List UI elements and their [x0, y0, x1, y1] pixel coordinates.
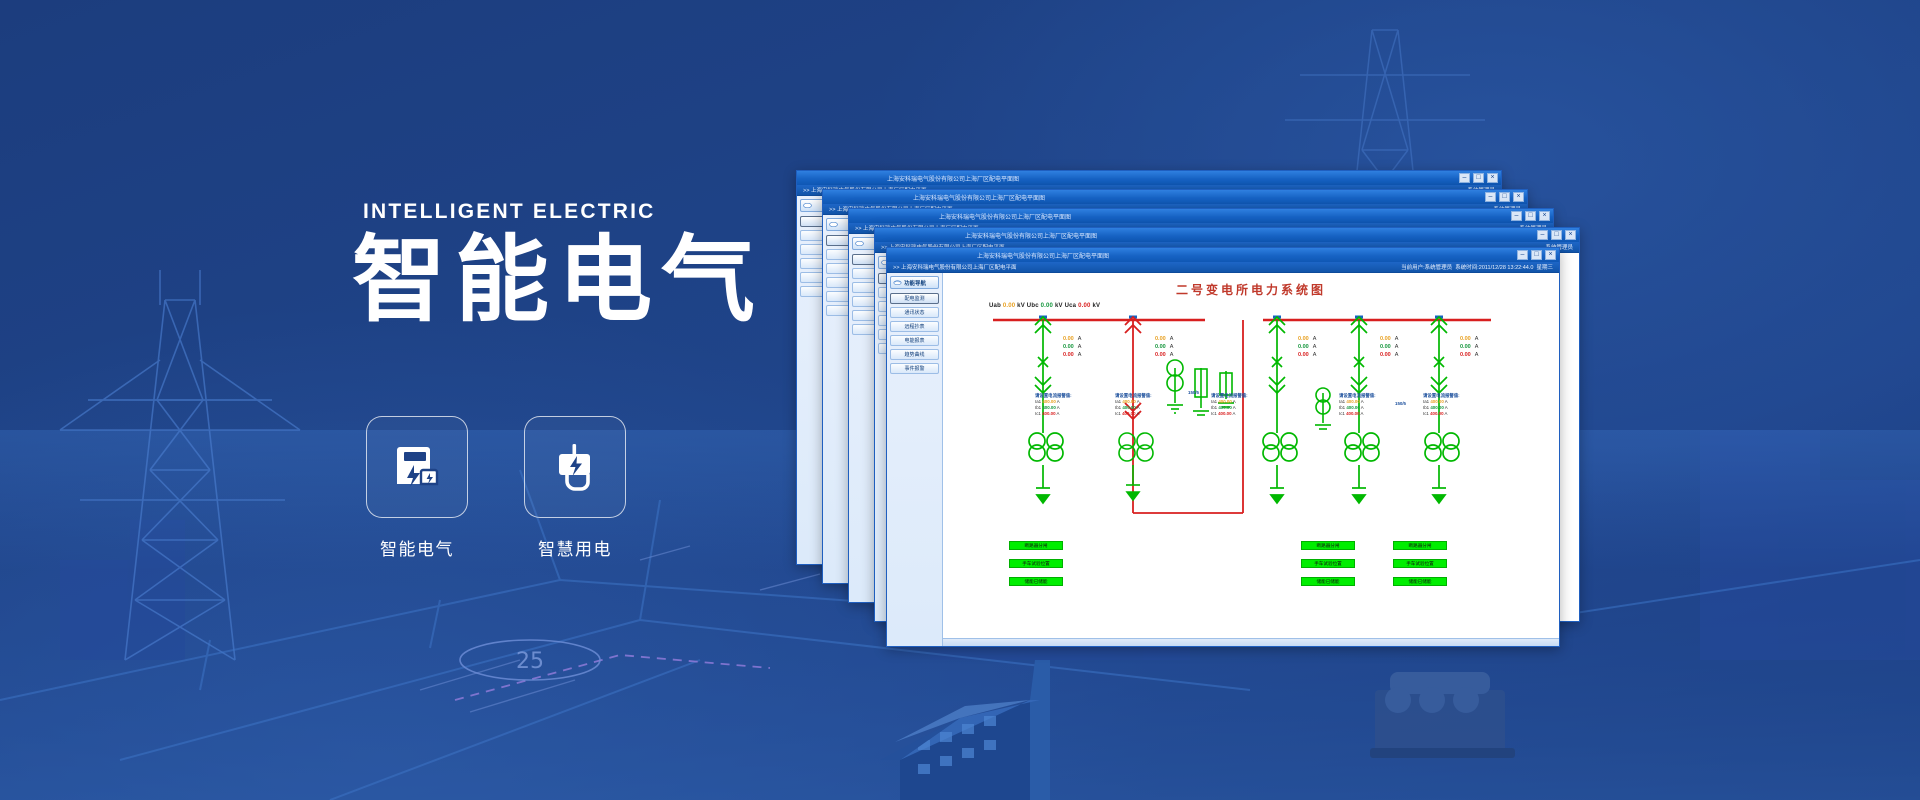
ib-value: 0.00: [1063, 344, 1074, 350]
ic-unit: A: [1170, 352, 1174, 358]
ic1-value: 400.00: [1122, 411, 1135, 416]
ib1-value: 400.00: [1430, 405, 1443, 410]
current-readout-3: 0.00A 0.00A 0.00A: [1298, 335, 1316, 359]
current-readout-1: 0.00A 0.00A 0.00A: [1063, 335, 1081, 359]
ia1-unit: A: [1445, 399, 1448, 404]
ic-value: 0.00: [1298, 352, 1309, 358]
ia-value: 0.00: [1063, 336, 1074, 342]
ic1-value: 400.00: [1430, 411, 1443, 416]
window-controls[interactable]: – □ ×: [1485, 192, 1524, 202]
status-button-truck-test-3[interactable]: 手车试验位置: [1393, 559, 1447, 568]
status-button-energy-stored-2[interactable]: 储能已储能: [1301, 577, 1355, 586]
scada-diagram: 二号变电所电力系统图 Uab 0.00 kV Ubc 0.00 kV Uca 0…: [943, 273, 1559, 646]
ia1-value: 400.00: [1346, 399, 1359, 404]
ia1-unit: A: [1137, 399, 1140, 404]
status-button-breaker-open-1[interactable]: 断路器分闸: [1009, 541, 1063, 550]
minimize-icon[interactable]: –: [1459, 173, 1470, 183]
ia-value: 0.00: [1380, 336, 1391, 342]
ic1-key: Ic1: [1211, 411, 1217, 416]
window-sidebar[interactable]: 功能导航 配电监测 通讯状态 远程抄表 电能报表 趋势曲线 事件: [887, 273, 943, 646]
nav-header-label: 功能导航: [904, 279, 926, 287]
ib1-value: 400.00: [1042, 405, 1055, 410]
ic-unit: A: [1313, 352, 1317, 358]
alarm-setting-box-3[interactable]: 请设置电流报警值: Ia1 400.00 A Ib1 400.00 A Ic1 …: [1211, 393, 1248, 417]
ic-unit: A: [1078, 352, 1082, 358]
scada-diagram-panel[interactable]: 二号变电所电力系统图 Uab 0.00 kV Ubc 0.00 kV Uca 0…: [943, 273, 1559, 646]
current-readout-5: 0.00A 0.00A 0.00A: [1460, 335, 1478, 359]
close-icon[interactable]: ×: [1545, 250, 1556, 260]
ic1-value: 400.00: [1218, 411, 1231, 416]
minimize-icon[interactable]: –: [1485, 192, 1496, 202]
ib1-unit: A: [1057, 405, 1060, 410]
ia1-value: 400.00: [1122, 399, 1135, 404]
ib-value: 0.00: [1380, 344, 1391, 350]
ct-ratio-label-1: 150/5: [1188, 390, 1199, 395]
ct-ratio-label-2: 150/5: [1395, 401, 1406, 406]
current-readout-2: 0.00A 0.00A 0.00A: [1155, 335, 1173, 359]
ia1-unit: A: [1233, 399, 1236, 404]
window-title-text: 上海安科瑞电气股份有限公司上海厂区配电平面图: [887, 174, 1019, 183]
window-title-text: 上海安科瑞电气股份有限公司上海厂区配电平面图: [913, 193, 1045, 202]
ia1-key: Ia1: [1035, 399, 1041, 404]
feeder-3: [1263, 317, 1297, 503]
ia-value: 0.00: [1298, 336, 1309, 342]
status-button-breaker-open-2[interactable]: 断路器分闸: [1301, 541, 1355, 550]
cloud-nav-icon: [893, 279, 902, 286]
ia1-key: Ia1: [1339, 399, 1345, 404]
ia-unit: A: [1078, 336, 1082, 342]
ia-unit: A: [1395, 336, 1399, 342]
ic1-key: Ic1: [1339, 411, 1345, 416]
ib-unit: A: [1475, 344, 1479, 350]
ia-unit: A: [1475, 336, 1479, 342]
sidebar-item-tongxun-zhuangtai[interactable]: 通讯状态: [890, 307, 939, 318]
cloud-nav-icon: [829, 221, 838, 228]
window-titlebar[interactable]: 上海安科瑞电气股份有限公司上海厂区配电平面图 – □ ×: [875, 228, 1579, 242]
cloud-nav-icon: [803, 202, 812, 209]
sidebar-item-dianneng-baobiao[interactable]: 电能报表: [890, 335, 939, 346]
status-info: 当前用户:系统管理员 系统时间:2011/12/28 13:22:44.0 星期…: [1401, 263, 1559, 271]
window-title-text: 上海安科瑞电气股份有限公司上海厂区配电平面图: [939, 212, 1071, 221]
sidebar-item-qushi-quxian[interactable]: 趋势曲线: [890, 349, 939, 360]
ib1-key: Ib1: [1423, 405, 1429, 410]
current-readout-4: 0.00A 0.00A 0.00A: [1380, 335, 1398, 359]
breadcrumb: >> 上海安科瑞电气股份有限公司上海厂区配电平面: [893, 263, 1016, 271]
ic1-key: Ic1: [1115, 411, 1121, 416]
sidebar-item-label: 远程抄表: [904, 323, 924, 330]
status-date: 2011/12/28: [1479, 265, 1506, 271]
ia-unit: A: [1313, 336, 1317, 342]
maximize-icon[interactable]: □: [1551, 230, 1562, 240]
ic-unit: A: [1395, 352, 1399, 358]
one-line-diagram: [943, 273, 1559, 646]
ia1-value: 400.00: [1042, 399, 1055, 404]
status-time-label: 系统时间:: [1455, 265, 1479, 271]
status-weekday: 星期三: [1536, 265, 1553, 271]
window-controls[interactable]: – □ ×: [1459, 173, 1498, 183]
ic1-key: Ic1: [1035, 411, 1041, 416]
status-user-label: 当前用户:: [1401, 265, 1425, 271]
window-controls[interactable]: – □ ×: [1537, 230, 1576, 240]
status-button-energy-stored-3[interactable]: 储能已储能: [1393, 577, 1447, 586]
ic-unit: A: [1475, 352, 1479, 358]
ib-value: 0.00: [1460, 344, 1471, 350]
ic1-unit: A: [1233, 411, 1236, 416]
status-button-energy-stored-1[interactable]: 储能已储能: [1009, 577, 1063, 586]
ib-unit: A: [1078, 344, 1082, 350]
minimize-icon[interactable]: –: [1511, 211, 1522, 221]
ic1-key: Ic1: [1423, 411, 1429, 416]
alarm-setting-box-1[interactable]: 请设置电流报警值: Ia1 400.00 A Ib1 400.00 A Ic1 …: [1035, 393, 1072, 417]
ib-unit: A: [1170, 344, 1174, 350]
ib1-value: 400.00: [1122, 405, 1135, 410]
window-titlebar[interactable]: 上海安科瑞电气股份有限公司上海厂区配电平面图 – □ ×: [823, 190, 1527, 204]
ic1-unit: A: [1057, 411, 1060, 416]
ia1-unit: A: [1361, 399, 1364, 404]
status-button-truck-test-1[interactable]: 手车试验位置: [1009, 559, 1063, 568]
alarm-setting-box-5[interactable]: 请设置电流报警值: Ia1 400.00 A Ib1 400.00 A Ic1 …: [1423, 393, 1460, 417]
voltage-transformer: [1167, 360, 1183, 413]
sidebar-item-yuancheng-chaobiao[interactable]: 远程抄表: [890, 321, 939, 332]
sidebar-item-label: 事件报警: [904, 365, 924, 372]
sidebar-item-label: 通讯状态: [904, 309, 924, 316]
sidebar-item-shijian-baojing[interactable]: 事件报警: [890, 363, 939, 374]
cloud-nav-icon: [855, 240, 864, 247]
ia1-key: Ia1: [1211, 399, 1217, 404]
maximize-icon[interactable]: □: [1525, 211, 1536, 221]
window-titlebar[interactable]: 上海安科瑞电气股份有限公司上海厂区配电平面图 – □ ×: [849, 209, 1553, 223]
status-button-truck-test-2[interactable]: 手车试验位置: [1301, 559, 1355, 568]
ic-value: 0.00: [1380, 352, 1391, 358]
window-title-text: 上海安科瑞电气股份有限公司上海厂区配电平面图: [977, 251, 1109, 260]
status-user-value: 系统管理员: [1425, 265, 1453, 271]
ib1-key: Ib1: [1339, 405, 1345, 410]
ib1-key: Ib1: [1115, 405, 1121, 410]
window-titlebar[interactable]: 上海安科瑞电气股份有限公司上海厂区配电平面图 – □ ×: [797, 171, 1501, 185]
maximize-icon[interactable]: □: [1473, 173, 1484, 183]
alarm-setting-box-4[interactable]: 请设置电流报警值: Ia1 400.00 A Ib1 400.00 A Ic1 …: [1339, 393, 1376, 417]
sidebar-item-label: 趋势曲线: [904, 351, 924, 358]
window-titlebar[interactable]: 上海安科瑞电气股份有限公司上海厂区配电平面图 – □ ×: [887, 248, 1559, 262]
status-clock: 13:22:44.0: [1507, 265, 1533, 271]
ib-value: 0.00: [1155, 344, 1166, 350]
active-window[interactable]: 上海安科瑞电气股份有限公司上海厂区配电平面图 – □ × >> 上海安科瑞电气股…: [886, 247, 1560, 647]
sidebar-item-peidian-jiance[interactable]: 配电监测: [890, 293, 939, 304]
ia-value: 0.00: [1460, 336, 1471, 342]
ia1-value: 400.00: [1218, 399, 1231, 404]
close-icon[interactable]: ×: [1565, 230, 1576, 240]
ic1-unit: A: [1445, 411, 1448, 416]
ic-value: 0.00: [1155, 352, 1166, 358]
window-title-text: 上海安科瑞电气股份有限公司上海厂区配电平面图: [965, 231, 1097, 240]
ia-unit: A: [1170, 336, 1174, 342]
ia1-unit: A: [1057, 399, 1060, 404]
window-body: 功能导航 配电监测 通讯状态 远程抄表 电能报表 趋势曲线 事件: [887, 273, 1559, 646]
sidebar-item-label: 配电监测: [904, 295, 924, 302]
window-statusbar: >> 上海安科瑞电气股份有限公司上海厂区配电平面 当前用户:系统管理员 系统时间…: [887, 262, 1559, 273]
ib1-unit: A: [1137, 405, 1140, 410]
ib1-key: Ib1: [1035, 405, 1041, 410]
minimize-icon[interactable]: –: [1517, 250, 1528, 260]
ib1-unit: A: [1445, 405, 1448, 410]
ib-unit: A: [1395, 344, 1399, 350]
ib1-key: Ib1: [1211, 405, 1217, 410]
ia1-key: Ia1: [1423, 399, 1429, 404]
maximize-icon[interactable]: □: [1499, 192, 1510, 202]
minimize-icon[interactable]: –: [1537, 230, 1548, 240]
ib1-unit: A: [1233, 405, 1236, 410]
ic1-unit: A: [1137, 411, 1140, 416]
window-controls[interactable]: – □ ×: [1517, 250, 1556, 260]
sidebar-item-label: 电能报表: [904, 337, 924, 344]
ib-value: 0.00: [1298, 344, 1309, 350]
ib1-unit: A: [1361, 405, 1364, 410]
ib-unit: A: [1313, 344, 1317, 350]
nav-header: 功能导航: [890, 276, 939, 289]
software-window-stack: 上海安科瑞电气股份有限公司上海厂区配电平面图 – □ × >> 上海安科瑞电气股…: [0, 0, 1920, 800]
diagram-bottom-bar: [943, 638, 1559, 646]
close-icon[interactable]: ×: [1539, 211, 1550, 221]
ib1-value: 400.00: [1218, 405, 1231, 410]
ic1-unit: A: [1361, 411, 1364, 416]
ic1-value: 400.00: [1042, 411, 1055, 416]
close-icon[interactable]: ×: [1513, 192, 1524, 202]
ic-value: 0.00: [1460, 352, 1471, 358]
ic1-value: 400.00: [1346, 411, 1359, 416]
ib1-value: 400.00: [1346, 405, 1359, 410]
ic-value: 0.00: [1063, 352, 1074, 358]
maximize-icon[interactable]: □: [1531, 250, 1542, 260]
alarm-setting-box-2[interactable]: 请设置电流报警值: Ia1 400.00 A Ib1 400.00 A Ic1 …: [1115, 393, 1152, 417]
ia-value: 0.00: [1155, 336, 1166, 342]
window-controls[interactable]: – □ ×: [1511, 211, 1550, 221]
ia1-value: 400.00: [1430, 399, 1443, 404]
close-icon[interactable]: ×: [1487, 173, 1498, 183]
status-button-breaker-open-3[interactable]: 断路器分闸: [1393, 541, 1447, 550]
ia1-key: Ia1: [1115, 399, 1121, 404]
